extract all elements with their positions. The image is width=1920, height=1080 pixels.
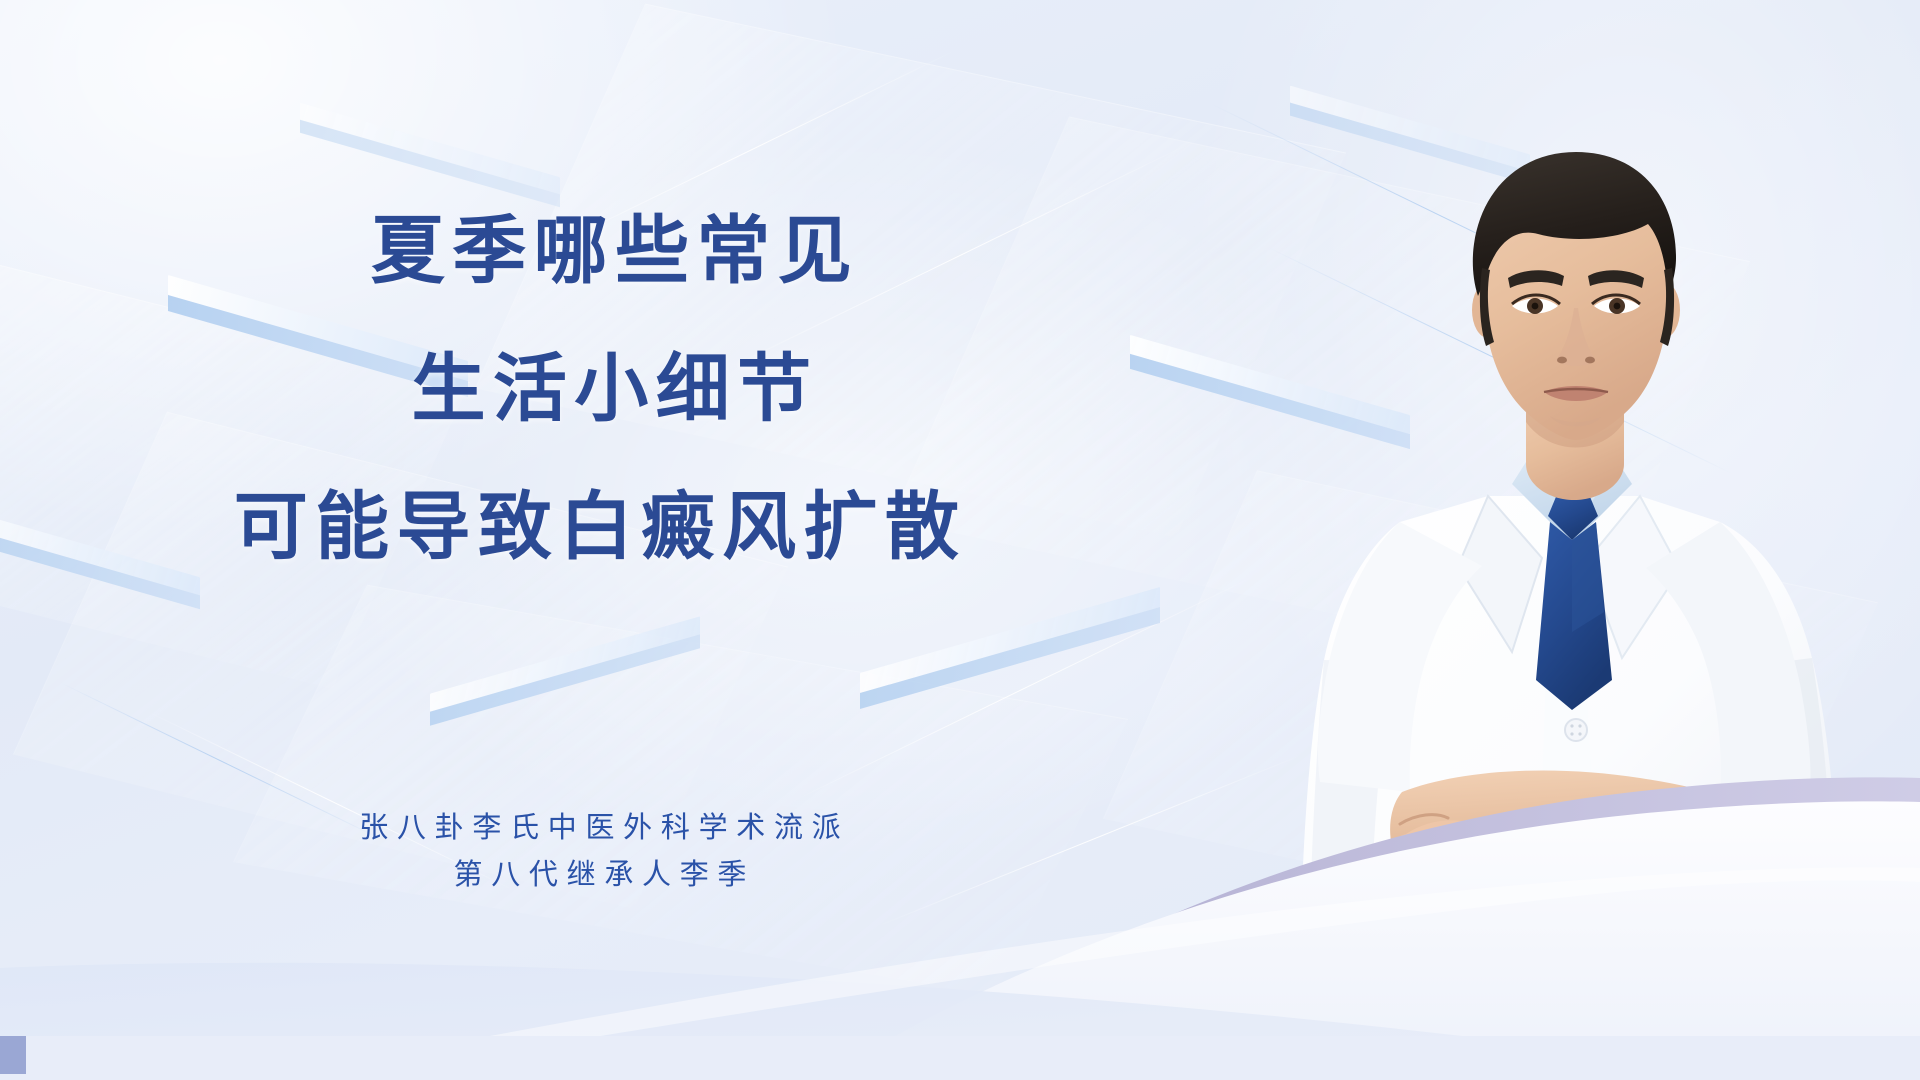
bottom-bar: [0, 1036, 1920, 1080]
title-line-1: 夏季哪些常见: [30, 214, 1200, 288]
bottom-wave-ribbons: [0, 650, 1920, 1080]
title-line-2: 生活小细节: [30, 352, 1200, 426]
bottom-left-accent-block: [0, 1036, 26, 1074]
poster-canvas: 夏季哪些常见 生活小细节 可能导致白癜风扩散 张八卦李氏中医外科学术流派 第八代…: [0, 0, 1920, 1080]
isometric-slab: [300, 103, 560, 206]
title-line-3: 可能导致白癜风扩散: [0, 490, 1200, 564]
head: [1472, 152, 1680, 440]
headline-block: 夏季哪些常见 生活小细节 可能导致白癜风扩散: [0, 214, 1200, 564]
